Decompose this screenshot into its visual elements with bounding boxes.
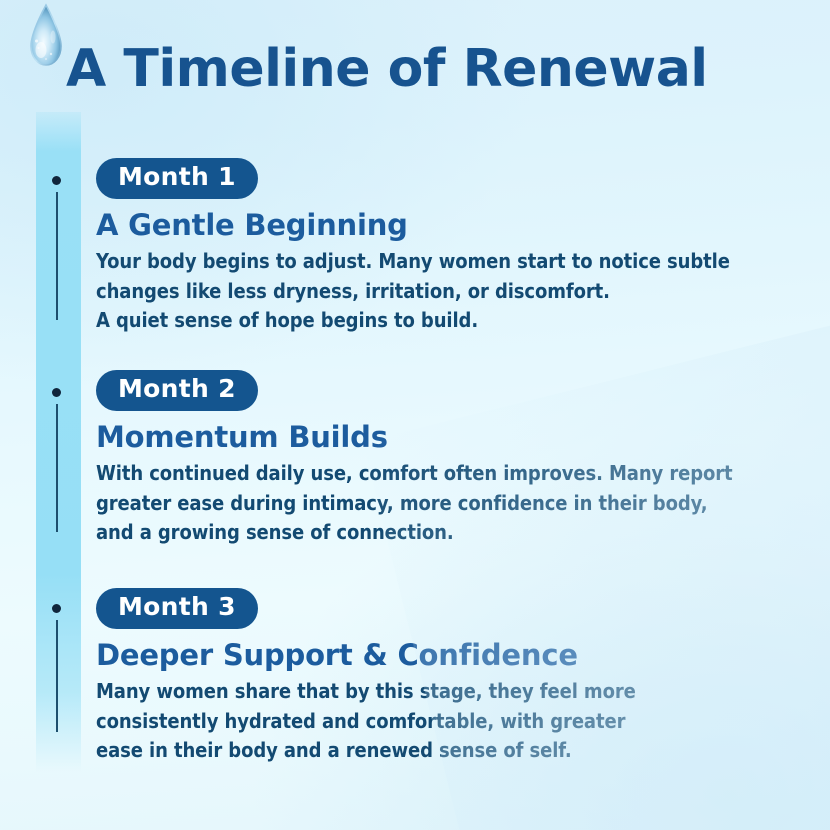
timeline-connector-3	[56, 620, 58, 732]
timeline-item-month-2: Month 2 Momentum Builds With continued d…	[96, 370, 796, 548]
page-title: A Timeline of Renewal	[66, 42, 806, 97]
body-month-2: With continued daily use, comfort often …	[96, 459, 796, 548]
timeline-dot-month-1	[52, 176, 61, 185]
timeline-connector-2	[56, 404, 58, 532]
timeline-item-month-1: Month 1 A Gentle Beginning Your body beg…	[96, 158, 796, 336]
body-line: A quiet sense of hope begins to build.	[96, 306, 796, 336]
body-line: Many women share that by this stage, the…	[96, 677, 796, 707]
body-line: ease in their body and a renewed sense o…	[96, 736, 796, 766]
timeline-rail	[36, 112, 81, 772]
body-line: With continued daily use, comfort often …	[96, 459, 796, 489]
body-line: Your body begins to adjust. Many women s…	[96, 247, 796, 277]
timeline-item-month-3: Month 3 Deeper Support & Confidence Many…	[96, 588, 796, 766]
timeline-dot-month-2	[52, 388, 61, 397]
badge-month-1: Month 1	[96, 158, 258, 199]
badge-month-2: Month 2	[96, 370, 258, 411]
body-line: consistently hydrated and comfortable, w…	[96, 707, 796, 737]
heading-month-2: Momentum Builds	[96, 421, 796, 454]
body-line: changes like less dryness, irritation, o…	[96, 277, 796, 307]
body-month-1: Your body begins to adjust. Many women s…	[96, 247, 796, 336]
timeline-infographic: A Timeline of Renewal Month 1 A Gentle B…	[0, 0, 830, 830]
badge-month-3: Month 3	[96, 588, 258, 629]
timeline-dot-month-3	[52, 604, 61, 613]
timeline-connector-1	[56, 192, 58, 320]
heading-month-1: A Gentle Beginning	[96, 209, 796, 242]
body-line: and a growing sense of connection.	[96, 518, 796, 548]
water-droplet-icon	[22, 2, 70, 76]
body-line: greater ease during intimacy, more confi…	[96, 489, 796, 519]
heading-month-3: Deeper Support & Confidence	[96, 639, 796, 672]
body-month-3: Many women share that by this stage, the…	[96, 677, 796, 766]
